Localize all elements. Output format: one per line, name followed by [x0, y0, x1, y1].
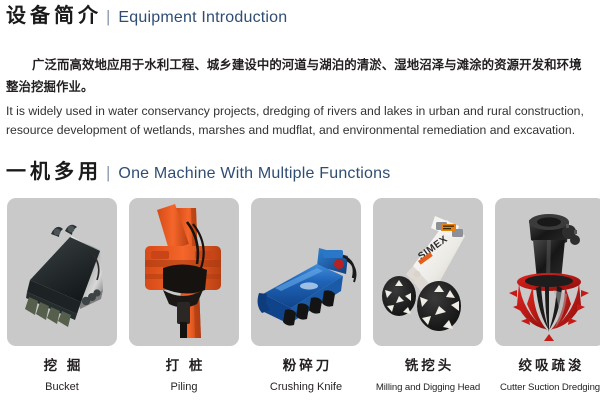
- section-heading-functions: 一机多用 | One Machine With Multiple Functio…: [6, 160, 390, 186]
- section-heading-equipment-cn: 设备简介: [6, 4, 102, 28]
- product-label-cn: 打 桩: [163, 358, 206, 374]
- product-label-en: Bucket: [45, 381, 79, 394]
- product-card[interactable]: SIMEX: [373, 198, 483, 394]
- product-label-en: Piling: [171, 381, 198, 394]
- product-card-row: 挖 掘 Bucket: [7, 198, 593, 394]
- section-heading-functions-cn: 一机多用: [6, 160, 102, 184]
- equipment-paragraph-cn: 广泛而高效地应用于水利工程、城乡建设中的河道与湖泊的清淤、湿地沼泽与滩涂的资源开…: [6, 54, 594, 98]
- section-heading-equipment: 设备简介 | Equipment Introduction: [6, 4, 287, 30]
- product-label-en: Milling and Digging Head: [376, 381, 480, 394]
- section-heading-functions-en: One Machine With Multiple Functions: [118, 162, 390, 186]
- heading-separator: |: [106, 161, 110, 185]
- pile-driver-photo[interactable]: [129, 198, 239, 346]
- product-label-cn: 绞吸疏浚: [516, 358, 585, 374]
- milling-digging-head-photo[interactable]: SIMEX: [373, 198, 483, 346]
- product-label-cn: 挖 掘: [41, 358, 84, 374]
- product-card[interactable]: 粉碎刀 Crushing Knife: [251, 198, 361, 394]
- equipment-paragraph-en: It is widely used in water conservancy p…: [6, 102, 594, 140]
- crushing-knife-mulcher-photo[interactable]: [251, 198, 361, 346]
- excavator-bucket-photo[interactable]: [7, 198, 117, 346]
- section-heading-equipment-en: Equipment Introduction: [118, 6, 287, 30]
- cutter-suction-dredging-head-photo[interactable]: [495, 198, 600, 346]
- product-card[interactable]: 打 桩 Piling: [129, 198, 239, 394]
- product-label-cn: 粉碎刀: [280, 358, 333, 374]
- product-card[interactable]: 绞吸疏浚 Cutter Suction Dredging: [495, 198, 600, 394]
- product-label-en: Crushing Knife: [270, 381, 342, 394]
- heading-separator: |: [106, 5, 110, 29]
- product-label-cn: 铣挖头: [402, 358, 455, 374]
- product-label-en: Cutter Suction Dredging: [500, 381, 600, 394]
- product-card[interactable]: 挖 掘 Bucket: [7, 198, 117, 394]
